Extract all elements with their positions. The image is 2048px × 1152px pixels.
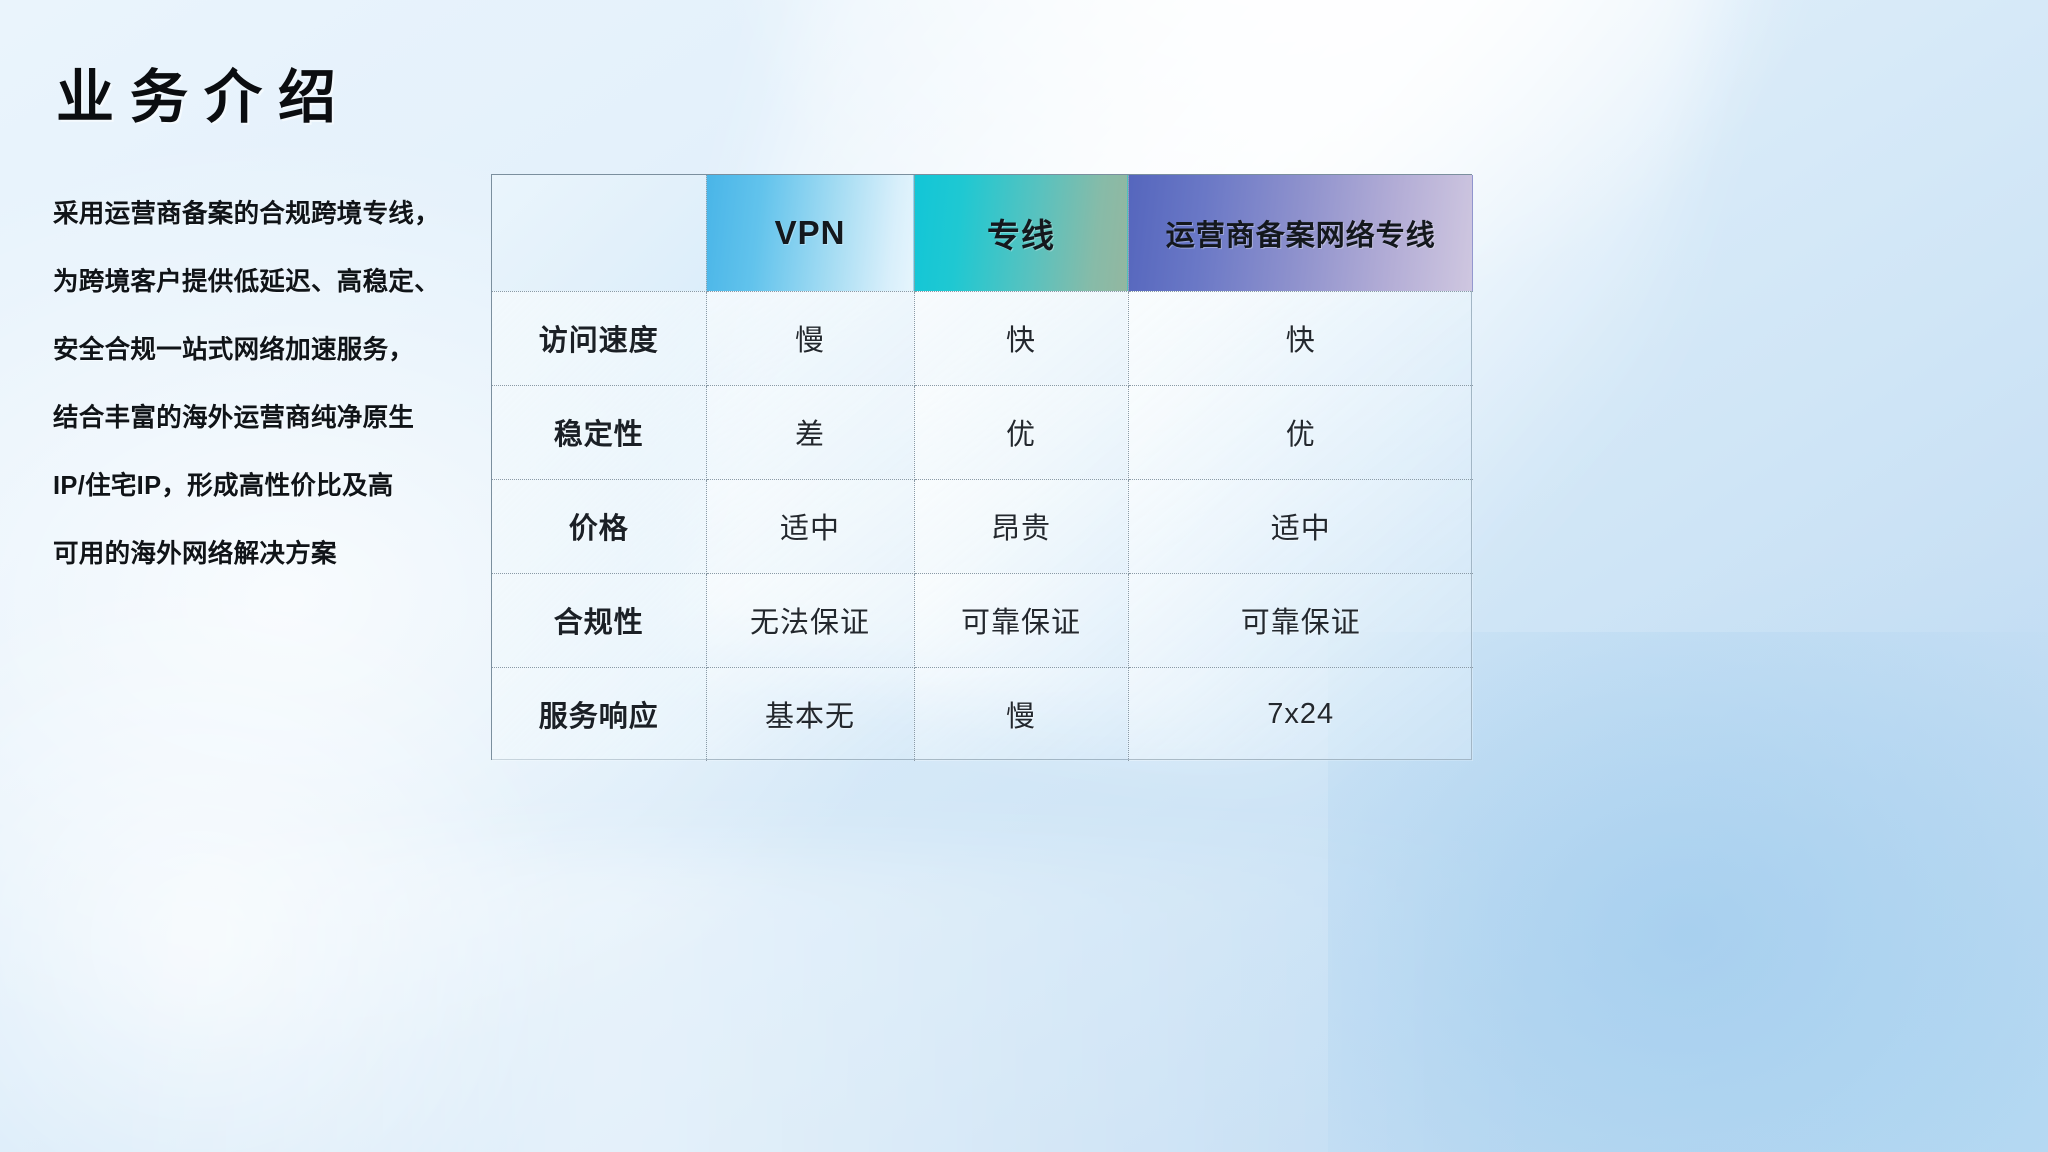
row-value-cell: 快 [914,291,1128,385]
row-value-cell: 可靠保证 [1128,573,1473,667]
row-value-cell: 优 [914,385,1128,479]
slide-canvas: 业务介绍 采用运营商备案的合规跨境专线， 为跨境客户提供低延迟、高稳定、 安全合… [0,0,2048,1152]
table-header-blank [492,175,706,291]
row-value: 适中 [1271,513,1331,545]
table-row: 合规性 无法保证 可靠保证 可靠保证 [492,573,1473,667]
row-value: 7x24 [1267,698,1334,730]
row-value-cell: 7x24 [1128,667,1473,761]
intro-line: 可用的海外网络解决方案 [53,520,483,588]
row-value-cell: 适中 [706,479,914,573]
row-value-cell: 可靠保证 [914,573,1128,667]
row-value-cell: 无法保证 [706,573,914,667]
row-value: 优 [1286,419,1316,451]
row-label: 价格 [569,513,629,545]
intro-line: 为跨境客户提供低延迟、高稳定、 [53,248,483,316]
intro-line: 结合丰富的海外运营商纯净原生 [53,384,483,452]
page-title: 业务介绍 [56,50,352,134]
row-value: 昂贵 [991,513,1051,545]
table-row: 稳定性 差 优 优 [492,385,1473,479]
row-value: 可靠保证 [1241,607,1361,639]
table-row: 服务响应 基本无 慢 7x24 [492,667,1473,761]
row-value-cell: 慢 [914,667,1128,761]
row-value: 慢 [1006,701,1036,733]
table-header-dedicated-line: 专线 [914,175,1128,291]
row-value: 快 [1286,325,1316,357]
row-value-cell: 基本无 [706,667,914,761]
row-label-cell: 稳定性 [492,385,706,479]
row-label: 服务响应 [539,701,659,733]
table-header-dedicated-line-label: 专线 [987,217,1055,254]
row-value: 无法保证 [750,607,870,639]
row-label: 稳定性 [554,419,644,451]
intro-line: IP/住宅IP，形成高性价比及高 [53,452,483,520]
row-value: 慢 [795,325,825,357]
row-label-cell: 服务响应 [492,667,706,761]
row-value-cell: 差 [706,385,914,479]
row-value: 可靠保证 [961,607,1081,639]
comparison-table: VPN 专线 运营商备案网络专线 访问速度 慢 [491,174,1472,760]
row-value: 适中 [780,513,840,545]
table-header-vpn: VPN [706,175,914,291]
table-header-carrier-line: 运营商备案网络专线 [1128,175,1473,291]
row-label-cell: 合规性 [492,573,706,667]
row-value: 快 [1006,325,1036,357]
intro-line: 安全合规一站式网络加速服务， [53,316,483,384]
row-value-cell: 昂贵 [914,479,1128,573]
table-header-row: VPN 专线 运营商备案网络专线 [492,175,1473,291]
intro-paragraph: 采用运营商备案的合规跨境专线， 为跨境客户提供低延迟、高稳定、 安全合规一站式网… [53,180,483,588]
table-header-carrier-line-label: 运营商备案网络专线 [1166,220,1436,252]
table-header-vpn-label: VPN [775,214,846,251]
intro-line: 采用运营商备案的合规跨境专线， [53,180,483,248]
table-row: 价格 适中 昂贵 适中 [492,479,1473,573]
row-value: 优 [1006,419,1036,451]
row-value-cell: 适中 [1128,479,1473,573]
row-value: 差 [795,419,825,451]
row-label: 访问速度 [539,325,659,357]
background-sheen-bottom [120,852,1520,1152]
row-value: 基本无 [765,701,855,733]
row-value-cell: 快 [1128,291,1473,385]
row-label-cell: 访问速度 [492,291,706,385]
table-row: 访问速度 慢 快 快 [492,291,1473,385]
row-label-cell: 价格 [492,479,706,573]
row-value-cell: 慢 [706,291,914,385]
row-label: 合规性 [554,607,644,639]
row-value-cell: 优 [1128,385,1473,479]
